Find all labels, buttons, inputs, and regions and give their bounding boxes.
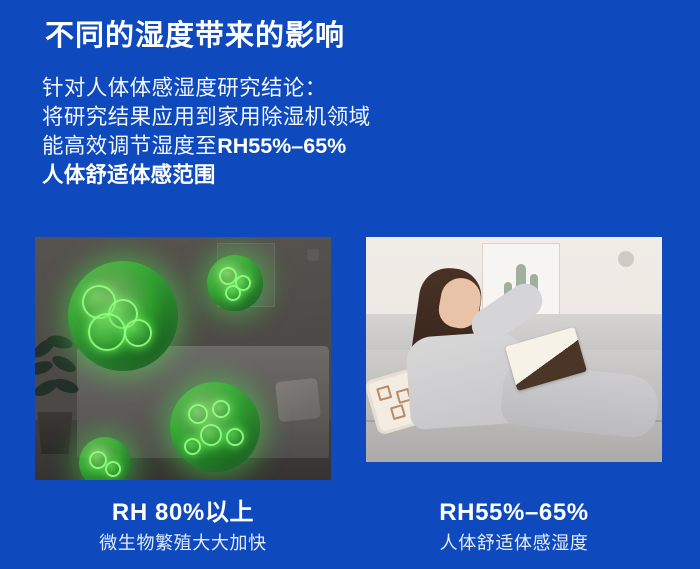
body-line-3: 能高效调节湿度至RH55%–65%: [42, 132, 472, 161]
caption-headline: RH55%–65%: [366, 498, 662, 528]
microbe-sphere: [207, 255, 263, 311]
plant-pot: [35, 412, 75, 454]
bright-living-room-scene: [366, 237, 662, 462]
microbe-bubble: [124, 319, 152, 347]
body-line-4: 人体舒适体感范围: [42, 161, 472, 190]
caption-headline: RH 80%以上: [35, 498, 331, 528]
microbe-sphere: [170, 382, 260, 472]
microbe-bubble: [184, 438, 201, 455]
sofa-cushion: [275, 378, 321, 422]
caption-high-humidity: RH 80%以上 微生物繁殖大大加快: [35, 498, 331, 556]
plant-leaf: [35, 359, 54, 378]
caption-comfort-humidity: RH55%–65% 人体舒适体感湿度: [366, 498, 662, 556]
body-copy: 针对人体体感湿度研究结论： 将研究结果应用到家用除湿机领域 能高效调节湿度至RH…: [42, 74, 472, 190]
microbe-bubble: [105, 461, 121, 477]
microbe-bubble: [226, 428, 244, 446]
microbe-bubble: [200, 424, 222, 446]
wall-fixture: [307, 249, 319, 261]
body-line-1: 针对人体体感湿度研究结论：: [42, 74, 472, 103]
body-line-3-highlight: RH55%–65%: [217, 134, 346, 158]
woman-reading: [406, 262, 656, 462]
microbe-bubble: [88, 313, 126, 351]
caption-subtext: 人体舒适体感湿度: [366, 530, 662, 556]
body-line-2: 将研究结果应用到家用除湿机领域: [42, 103, 472, 132]
infographic-page: 不同的湿度带来的影响 针对人体体感湿度研究结论： 将研究结果应用到家用除湿机领域…: [0, 0, 700, 569]
photo-high-humidity: [35, 237, 331, 480]
microbe-sphere: [79, 437, 131, 480]
page-title: 不同的湿度带来的影响: [45, 20, 345, 53]
microbe-bubble: [225, 285, 241, 301]
photo-comfort-humidity: [366, 237, 662, 462]
plant-leaf: [50, 353, 79, 376]
microbe-bubble: [212, 400, 230, 418]
caption-subtext: 微生物繁殖大大加快: [35, 530, 331, 556]
body-line-3-prefix: 能高效调节湿度至: [42, 134, 217, 158]
microbe-sphere: [68, 261, 178, 371]
plant-leaf: [52, 376, 81, 396]
microbe-bubble: [188, 404, 208, 424]
dim-living-room-scene: [35, 237, 331, 480]
